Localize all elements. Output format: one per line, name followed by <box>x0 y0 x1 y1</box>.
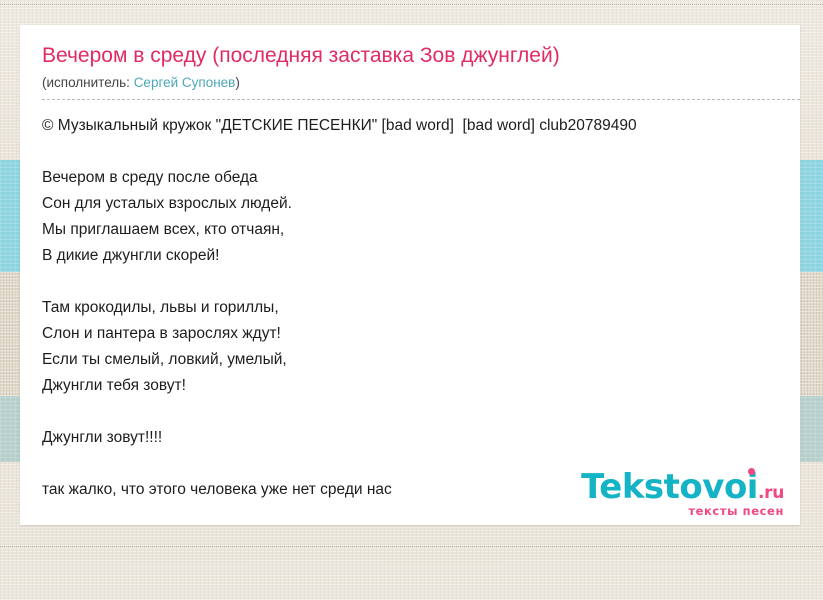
lyric-line: Джунгли тебя зовут! <box>42 373 800 399</box>
lyric-line: Вечером в среду после обеда <box>42 165 800 191</box>
lyric-blank-line <box>42 269 800 295</box>
lyrics-card-body: Вечером в среду (последняя заставка Зов … <box>20 25 800 503</box>
song-title: Вечером в среду (последняя заставка Зов … <box>42 43 800 69</box>
lyrics-card: Вечером в среду (последняя заставка Зов … <box>20 25 800 525</box>
copyright-line: © Музыкальный кружок "ДЕТСКИЕ ПЕСЕНКИ" [… <box>42 113 800 139</box>
artist-suffix-label: ) <box>235 75 240 90</box>
lyric-line: В дикие джунгли скорей! <box>42 243 800 269</box>
lyrics-body: © Музыкальный кружок "ДЕТСКИЕ ПЕСЕНКИ" [… <box>42 113 800 503</box>
lyric-line: Джунгли зовут!!!! <box>42 425 800 451</box>
logo-word-main: Tekstovo <box>581 467 747 507</box>
lyrics-lines: Вечером в среду после обедаСон для устал… <box>42 139 800 503</box>
artist-prefix-label: (исполнитель: <box>42 75 134 90</box>
artist-link[interactable]: Сергей Супонев <box>134 75 236 90</box>
artist-line: (исполнитель: Сергей Супонев) <box>42 73 800 93</box>
logo-i-dot-accent <box>748 468 755 475</box>
site-watermark-logo: Tekstovoi.ru тексты песен <box>581 470 784 518</box>
logo-tagline: тексты песен <box>581 506 784 518</box>
header-divider <box>42 99 800 100</box>
logo-word-i: i <box>747 470 758 504</box>
lyric-line: Сон для усталых взрослых людей. <box>42 191 800 217</box>
logo-tld: .ru <box>758 483 784 503</box>
logo-wordmark: Tekstovoi.ru <box>581 470 784 504</box>
background-hairline-top <box>0 4 823 5</box>
background-hairline-bottom <box>0 546 823 547</box>
lyric-line: Там крокодилы, львы и гориллы, <box>42 295 800 321</box>
lyric-blank-line <box>42 139 800 165</box>
lyric-line: Если ты смелый, ловкий, умелый, <box>42 347 800 373</box>
lyric-line: Слон и пантера в зарослях ждут! <box>42 321 800 347</box>
lyric-line: Мы приглашаем всех, кто отчаян, <box>42 217 800 243</box>
lyric-blank-line <box>42 399 800 425</box>
